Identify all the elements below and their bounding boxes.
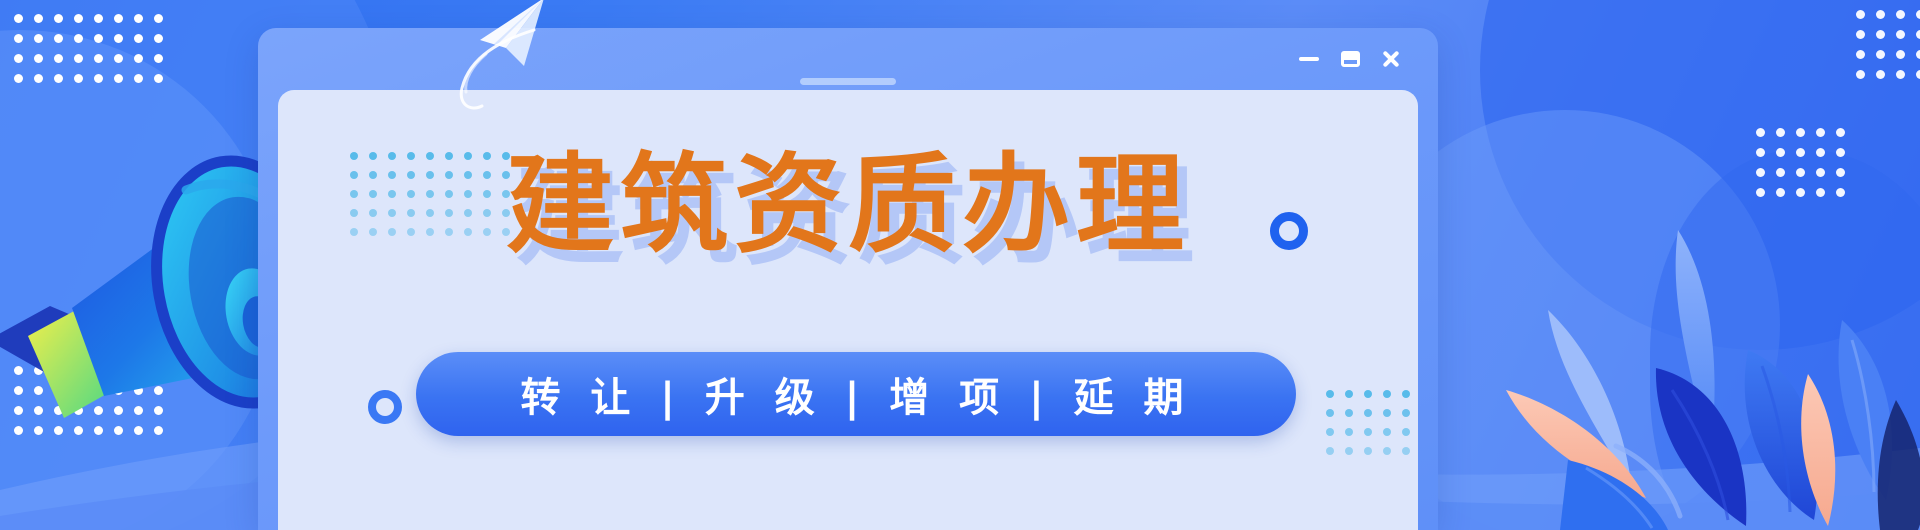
dot	[1836, 188, 1845, 197]
dot	[1383, 390, 1391, 398]
dot	[1896, 30, 1905, 39]
dot	[94, 14, 103, 23]
dot	[1816, 188, 1825, 197]
dot	[1383, 409, 1391, 417]
dot	[1876, 50, 1885, 59]
dot	[54, 406, 63, 415]
dot	[94, 426, 103, 435]
dot	[1916, 30, 1920, 39]
dot-grid-decoration	[1326, 390, 1410, 455]
dot	[1383, 447, 1391, 455]
ring-circle-icon	[368, 390, 402, 424]
foliage-decoration-icon	[1410, 160, 1920, 530]
card-handle-bar	[800, 78, 896, 85]
dot	[1326, 390, 1334, 398]
dot	[114, 366, 123, 375]
dot	[134, 366, 143, 375]
dot	[54, 14, 63, 23]
dot	[1364, 409, 1372, 417]
dot	[1816, 128, 1825, 137]
dot	[34, 386, 43, 395]
dot	[114, 34, 123, 43]
dot	[94, 74, 103, 83]
dot	[1856, 10, 1865, 19]
dot	[1326, 428, 1334, 436]
dot	[1876, 10, 1885, 19]
dot	[1796, 148, 1805, 157]
dot	[74, 386, 83, 395]
dot	[114, 426, 123, 435]
dot	[154, 74, 163, 83]
background-blob	[1650, 150, 1920, 530]
dot	[74, 406, 83, 415]
dot	[1345, 409, 1353, 417]
services-cta-label: 转 让 | 升 级 | 增 项 | 延 期	[520, 365, 1191, 423]
dot	[74, 426, 83, 435]
dot	[1402, 447, 1410, 455]
dot	[134, 426, 143, 435]
dot	[14, 386, 23, 395]
dot	[94, 406, 103, 415]
dot	[154, 54, 163, 63]
dot	[1816, 168, 1825, 177]
dot	[1916, 50, 1920, 59]
dot	[54, 34, 63, 43]
dot	[114, 406, 123, 415]
dot	[1836, 128, 1845, 137]
dot	[154, 366, 163, 375]
dot	[1364, 447, 1372, 455]
maximize-icon[interactable]	[1341, 51, 1360, 67]
dot	[154, 34, 163, 43]
dot	[74, 366, 83, 375]
dot	[1836, 168, 1845, 177]
background-blob	[1480, 0, 1920, 350]
dot	[114, 74, 123, 83]
dot	[54, 366, 63, 375]
dot	[1776, 128, 1785, 137]
window-controls[interactable]	[1299, 48, 1400, 70]
dot	[74, 74, 83, 83]
dot	[1345, 428, 1353, 436]
dot	[134, 54, 143, 63]
dot	[1796, 168, 1805, 177]
dot	[1756, 148, 1765, 157]
dot	[1364, 390, 1372, 398]
dot	[14, 74, 23, 83]
dot	[1876, 70, 1885, 79]
dot	[1756, 168, 1765, 177]
close-icon[interactable]	[1382, 50, 1400, 68]
dot	[114, 54, 123, 63]
dot	[94, 34, 103, 43]
dot	[1816, 148, 1825, 157]
dot	[94, 386, 103, 395]
dot	[14, 366, 23, 375]
dot	[14, 406, 23, 415]
dot	[154, 14, 163, 23]
dot	[1402, 390, 1410, 398]
dot	[1836, 148, 1845, 157]
dot	[34, 366, 43, 375]
dot	[134, 14, 143, 23]
dot	[94, 366, 103, 375]
dot	[114, 14, 123, 23]
dot	[34, 34, 43, 43]
dot	[54, 74, 63, 83]
dot	[54, 386, 63, 395]
dot	[34, 74, 43, 83]
dot	[14, 54, 23, 63]
dot	[1345, 447, 1353, 455]
dot-grid-decoration	[1756, 128, 1845, 197]
dot	[1364, 428, 1372, 436]
dot	[34, 426, 43, 435]
dot	[1402, 428, 1410, 436]
dot	[154, 426, 163, 435]
dot	[1776, 188, 1785, 197]
dot	[1896, 70, 1905, 79]
minimize-icon[interactable]	[1299, 57, 1319, 61]
dot	[1856, 50, 1865, 59]
dot	[74, 14, 83, 23]
dot	[1383, 428, 1391, 436]
dot	[14, 426, 23, 435]
dot	[1896, 50, 1905, 59]
dot	[1326, 447, 1334, 455]
dot	[54, 426, 63, 435]
services-cta-button[interactable]: 转 让 | 升 级 | 增 项 | 延 期	[416, 352, 1296, 436]
dot	[1896, 10, 1905, 19]
dot	[1876, 30, 1885, 39]
dot	[94, 54, 103, 63]
dot	[1402, 409, 1410, 417]
dot	[1856, 70, 1865, 79]
dot	[134, 74, 143, 83]
dot	[54, 54, 63, 63]
dot	[134, 34, 143, 43]
dot	[1796, 188, 1805, 197]
dot	[1345, 390, 1353, 398]
card-content-panel: 建筑资质办理 转 让 | 升 级 | 增 项 | 延 期	[278, 90, 1418, 530]
dot	[74, 34, 83, 43]
dot	[154, 386, 163, 395]
dot	[154, 406, 163, 415]
dot-grid-decoration	[14, 366, 163, 435]
promotional-banner: 建筑资质办理 转 让 | 升 级 | 增 项 | 延 期	[0, 0, 1920, 530]
window-card: 建筑资质办理 转 让 | 升 级 | 增 项 | 延 期	[258, 28, 1438, 530]
dot	[134, 406, 143, 415]
dot	[1326, 409, 1334, 417]
dot	[14, 14, 23, 23]
dot-grid-decoration	[14, 14, 163, 83]
dot	[34, 14, 43, 23]
dot	[14, 34, 23, 43]
dot	[1916, 70, 1920, 79]
dot	[1856, 30, 1865, 39]
dot	[74, 54, 83, 63]
dot	[1776, 168, 1785, 177]
background-blob	[0, 30, 280, 530]
dot	[1756, 188, 1765, 197]
dot	[1776, 148, 1785, 157]
dot	[1756, 128, 1765, 137]
dot-grid-decoration	[1856, 10, 1920, 79]
dot	[34, 54, 43, 63]
dot	[34, 406, 43, 415]
dot	[1916, 10, 1920, 19]
dot	[1796, 128, 1805, 137]
dot	[114, 386, 123, 395]
dot	[134, 386, 143, 395]
page-title: 建筑资质办理	[278, 152, 1418, 260]
